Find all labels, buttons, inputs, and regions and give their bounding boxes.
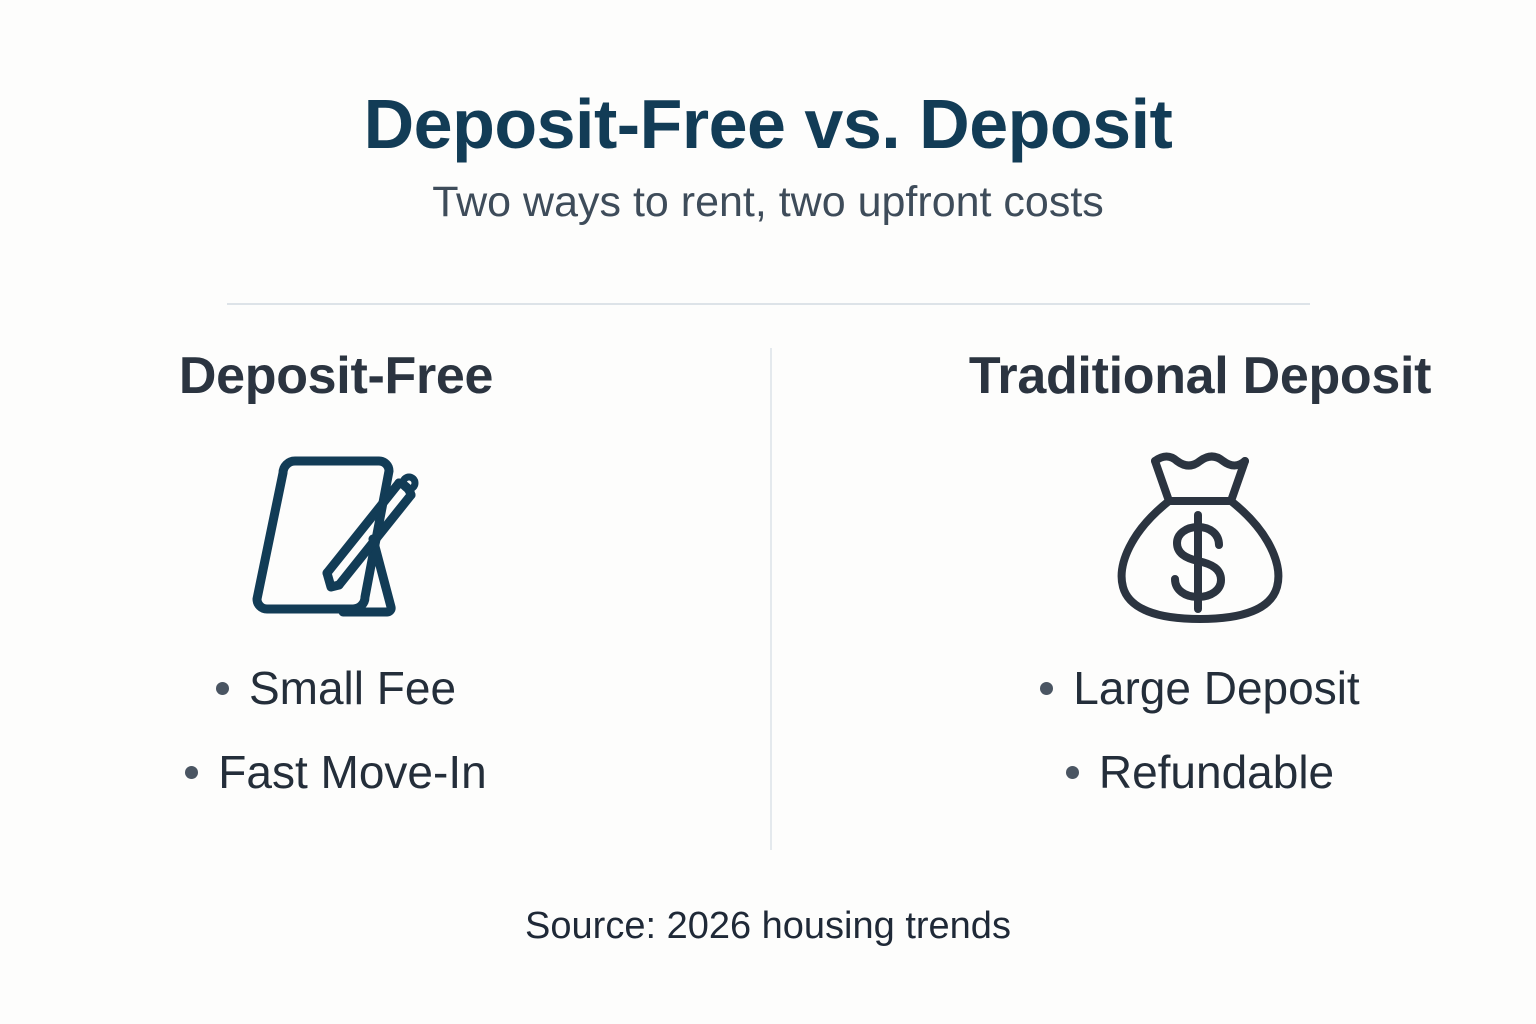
header: Deposit-Free vs. Deposit Two ways to ren…	[0, 0, 1536, 227]
list-item: Large Deposit	[1040, 665, 1359, 711]
bullet-label: Fast Move-In	[218, 746, 486, 798]
infographic-canvas: Deposit-Free vs. Deposit Two ways to ren…	[0, 0, 1536, 1024]
list-item: Refundable	[1040, 749, 1359, 795]
list-item: Fast Move-In	[185, 749, 486, 795]
bullet-label: Refundable	[1099, 746, 1334, 798]
bullet-dot-icon	[216, 682, 229, 695]
bullet-dot-icon	[1040, 682, 1053, 695]
page-title: Deposit-Free vs. Deposit	[0, 0, 1536, 162]
page-subtitle: Two ways to rent, two upfront costs	[0, 162, 1536, 227]
bullet-dot-icon	[1066, 766, 1079, 779]
source-note: Source: 2026 housing trends	[0, 904, 1536, 950]
document-pen-icon	[231, 447, 441, 627]
column-title-deposit-free: Deposit-Free	[179, 348, 493, 405]
bullet-list-deposit-free: Small Fee Fast Move-In	[185, 665, 486, 795]
header-divider	[227, 303, 1310, 305]
bullet-dot-icon	[185, 766, 198, 779]
bullet-list-traditional-deposit: Large Deposit Refundable	[1040, 665, 1359, 795]
column-deposit-free: Deposit-Free	[0, 348, 768, 795]
bullet-label: Small Fee	[249, 662, 456, 714]
column-title-traditional-deposit: Traditional Deposit	[969, 348, 1431, 405]
bullet-label: Large Deposit	[1073, 662, 1359, 714]
comparison-columns: Deposit-Free	[0, 348, 1536, 795]
column-traditional-deposit: Traditional Deposit	[768, 348, 1536, 795]
list-item: Small Fee	[185, 665, 486, 711]
money-bag-icon	[1113, 447, 1288, 627]
